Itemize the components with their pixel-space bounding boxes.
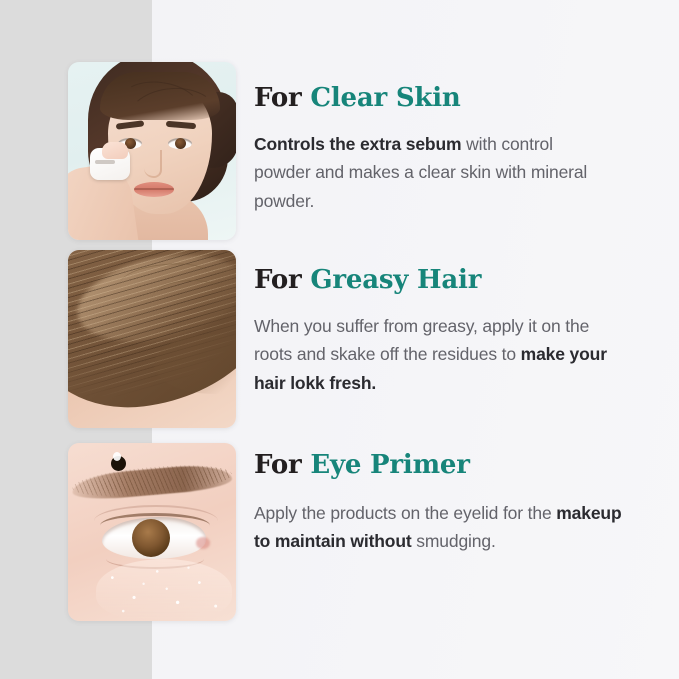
nose-shape <box>144 150 162 178</box>
section-body: Apply the products on the eyelid for the… <box>254 499 622 556</box>
heading-accent: Clear Skin <box>310 83 460 113</box>
woman-applying-powder-puff-photo <box>68 62 236 240</box>
heading-prefix: For <box>254 265 310 295</box>
heading-prefix: For <box>254 83 310 113</box>
eye-right <box>168 138 192 149</box>
section-heading: For Clear Skin <box>254 84 461 113</box>
greasy-hairline-closeup-photo <box>68 250 236 428</box>
body-text: Apply the products on the eyelid for the <box>254 503 556 523</box>
section-heading: For Greasy Hair <box>254 266 481 295</box>
powder-puff-label <box>95 160 115 164</box>
eye-closeup-photo <box>68 443 236 621</box>
lip-line <box>134 188 174 190</box>
section-heading: For Eye Primer <box>254 451 470 480</box>
upper-lash-line <box>100 513 210 538</box>
body-strong: Controls the extra sebum <box>254 134 461 154</box>
powder-puff-pad <box>102 142 128 159</box>
tear-duct <box>196 537 210 549</box>
heading-accent: Greasy Hair <box>310 265 481 295</box>
section-body: When you suffer from greasy, apply it on… <box>254 312 622 397</box>
heading-prefix: For <box>254 450 310 480</box>
shimmer-highlighter <box>96 559 232 621</box>
eye-highlight <box>113 452 121 461</box>
body-text: smudging. <box>412 531 496 551</box>
iris <box>175 138 186 149</box>
heading-accent: Eye Primer <box>310 450 469 480</box>
product-benefits-infographic: For Clear Skin Controls the extra sebum … <box>0 0 679 679</box>
section-body: Controls the extra sebum with control po… <box>254 130 606 215</box>
